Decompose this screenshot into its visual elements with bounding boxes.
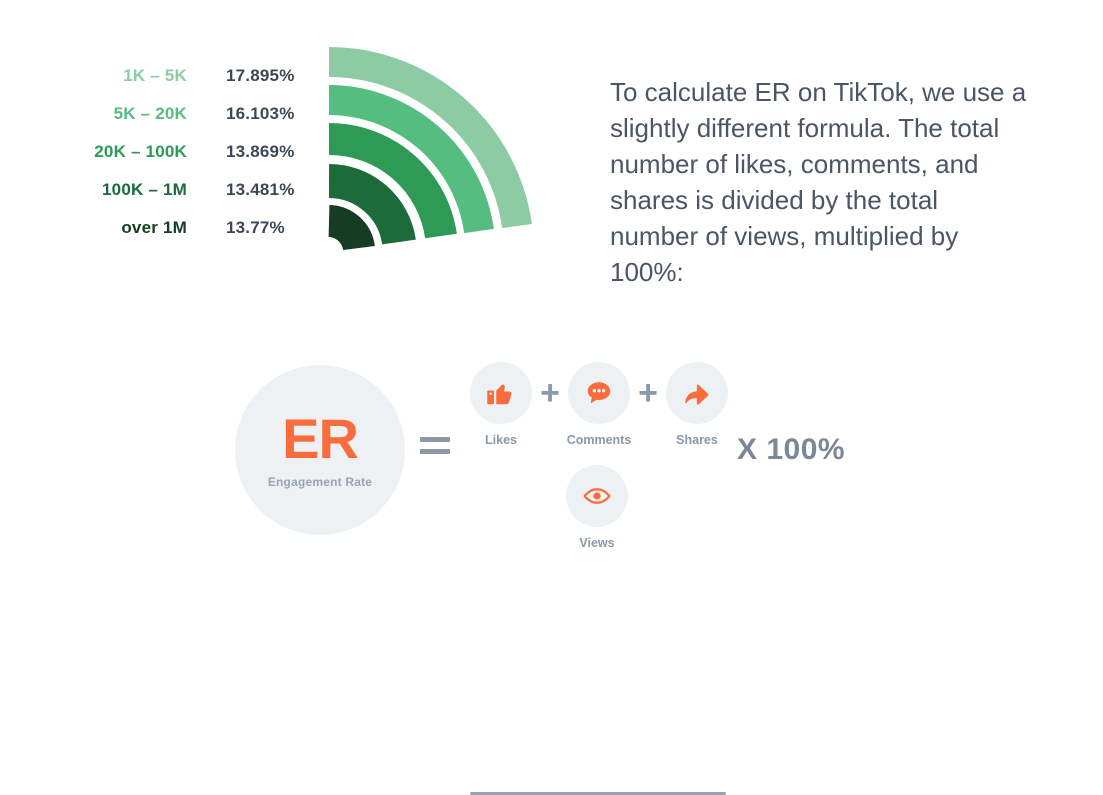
term-label: Shares	[676, 433, 718, 447]
multiplier-label: X 100%	[737, 433, 845, 467]
equals-bar-bottom	[420, 449, 450, 454]
term-label: Comments	[567, 433, 632, 447]
er-badge: ER Engagement Rate	[235, 365, 405, 535]
term-shares: Shares	[663, 362, 731, 447]
legend-row: 100K – 1M 13.481%	[0, 171, 310, 209]
legend-value: 13.869%	[226, 142, 295, 162]
radial-arc-graphic	[310, 40, 550, 265]
er-caption: Engagement Rate	[268, 475, 372, 489]
legend-row: 5K – 20K 16.103%	[0, 95, 310, 133]
legend-value: 17.895%	[226, 66, 295, 86]
term-label: Views	[579, 536, 614, 550]
equals-sign	[420, 437, 450, 455]
share-arrow-icon	[666, 362, 728, 424]
thumbs-up-icon	[470, 362, 532, 424]
legend-label: 5K – 20K	[0, 104, 187, 124]
legend-label: 20K – 100K	[0, 142, 187, 162]
formula-denominator: Views	[566, 465, 628, 550]
term-likes: Likes	[467, 362, 535, 447]
legend-value: 16.103%	[226, 104, 295, 124]
plus-sign: +	[535, 362, 565, 424]
equals-bar-top	[420, 437, 450, 442]
legend-row: over 1M 13.77%	[0, 209, 310, 247]
plus-sign: +	[633, 362, 663, 424]
intro-paragraph: To calculate ER on TikTok, we use a slig…	[610, 74, 1030, 290]
legend-label: over 1M	[0, 218, 187, 238]
legend-row: 20K – 100K 13.869%	[0, 133, 310, 171]
formula-numerator: Likes + Comments + Shares	[467, 362, 731, 447]
er-formula-diagram: ER Engagement Rate Likes +	[0, 340, 1103, 570]
eye-icon	[566, 465, 628, 527]
legend-value: 13.481%	[226, 180, 295, 200]
arc-band-over-1m	[329, 221, 359, 248]
term-label: Likes	[485, 433, 517, 447]
legend-value: 13.77%	[226, 218, 285, 238]
comment-bubble-icon	[568, 362, 630, 424]
legend-label: 100K – 1M	[0, 180, 187, 200]
engagement-rate-chart: 1K – 5K 17.895% 5K – 20K 16.103% 20K – 1…	[0, 0, 560, 280]
legend-row: 1K – 5K 17.895%	[0, 57, 310, 95]
er-abbreviation: ER	[282, 411, 358, 467]
legend-label: 1K – 5K	[0, 66, 187, 86]
term-comments: Comments	[565, 362, 633, 447]
chart-legend: 1K – 5K 17.895% 5K – 20K 16.103% 20K – 1…	[0, 57, 310, 247]
